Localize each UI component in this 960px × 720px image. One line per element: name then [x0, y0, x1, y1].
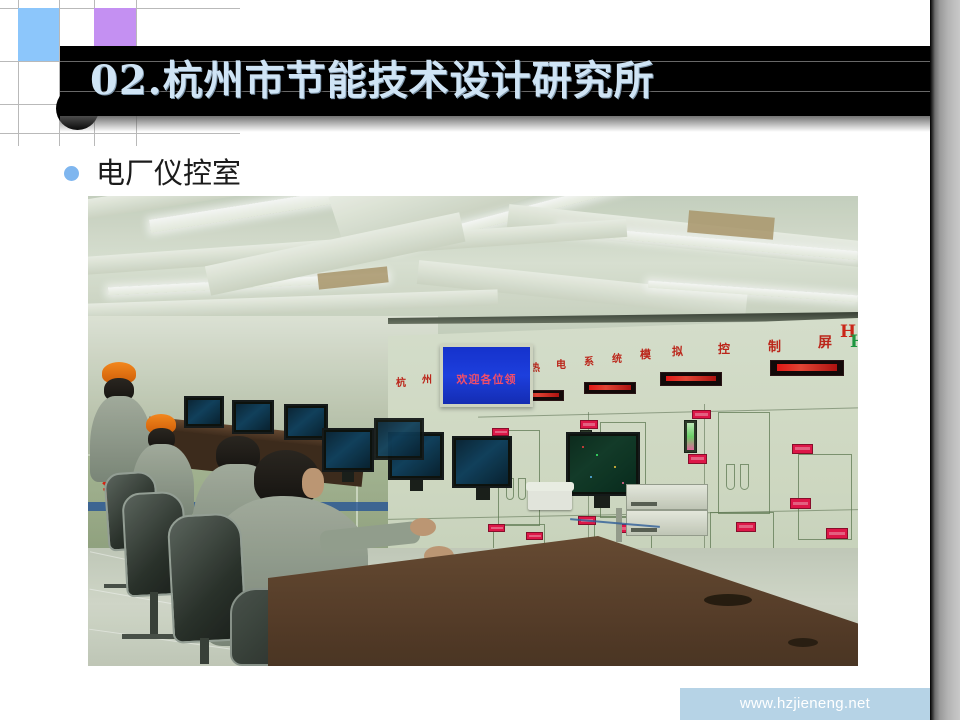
bullet-label: 电厂仪控室 [96, 152, 241, 194]
monitor [322, 428, 374, 472]
desk-cable-grommet [788, 638, 818, 647]
monitor-stand [594, 496, 610, 508]
scada-alarm-dot [582, 446, 584, 448]
bullet-row: 电厂仪控室 [58, 152, 658, 194]
digital-readout [736, 522, 756, 532]
wall-division-line [478, 407, 858, 417]
digital-readout [790, 498, 811, 509]
mimic-pipe-bend [518, 478, 526, 500]
digital-readout [826, 528, 848, 539]
wall-header-char: 控 [718, 340, 730, 357]
monitor-screen [188, 400, 220, 424]
wall-header-char: 拟 [672, 343, 683, 359]
decorative-square-blue [18, 8, 59, 61]
person-hand [410, 518, 436, 536]
footer-url-text: www.hzjieneng.net [680, 688, 930, 720]
equipment-box-controls [631, 528, 657, 532]
slide-canvas: 02.杭州市节能技术设计研究所 电厂仪控室 [0, 0, 937, 720]
equipment-box [626, 510, 708, 536]
equipment-box-stand [616, 508, 622, 542]
monitor-stand [342, 472, 354, 482]
led-banner [584, 382, 636, 394]
scada-warn-dot [614, 466, 616, 468]
monitor-stand [410, 480, 423, 491]
digital-readout [492, 428, 509, 436]
digital-readout [688, 454, 707, 464]
footer-url-bar: www.hzjieneng.net [680, 688, 930, 720]
welcome-display-text: 欢迎各位领 [447, 371, 526, 387]
desk-cable-grommet [704, 594, 752, 606]
wall-header-char: 杭 [396, 374, 406, 389]
mimic-pipe-bend [740, 464, 749, 490]
monitor-screen [456, 440, 508, 484]
title-banner-shadow [60, 116, 937, 132]
page-title: 02.杭州市节能技术设计研究所 [90, 49, 880, 113]
panel-gauge [684, 420, 697, 453]
slide-root: 02.杭州市节能技术设计研究所 电厂仪控室 [0, 0, 960, 720]
monitor-stand [476, 488, 490, 500]
digital-readout [792, 444, 813, 454]
office-chair-post [150, 592, 158, 636]
wall-header-char: 统 [612, 350, 622, 365]
monitor [232, 400, 274, 434]
digital-readout [488, 524, 505, 532]
bullet-dot-icon [64, 166, 79, 181]
welcome-display-screen: 欢迎各位领 [440, 344, 533, 407]
monitor-screen [288, 408, 324, 436]
mimic-pipe-loop [718, 412, 770, 514]
monitor-screen [236, 404, 270, 430]
digital-readout [526, 532, 543, 540]
grid-line-horizontal [0, 133, 240, 134]
scada-ok-dot [596, 454, 598, 456]
digital-readout [580, 420, 598, 429]
equipment-box [626, 484, 708, 510]
digital-readout [692, 410, 711, 419]
monitor [374, 418, 424, 460]
wall-header-char: 州 [422, 371, 432, 386]
person-face [302, 468, 324, 498]
office-chair-post [200, 638, 209, 664]
wall-header-char: 系 [584, 353, 594, 368]
monitor-screen [378, 422, 420, 456]
scada-info-dot [622, 482, 624, 484]
wall-header-char: 制 [768, 336, 781, 355]
wall-header-char: 电 [556, 356, 566, 371]
equipment-box-controls [631, 502, 657, 506]
scada-info-dot [590, 476, 592, 478]
slide-right-edge-shadow [930, 0, 960, 720]
mimic-pipe-bend [726, 464, 735, 490]
wall-header-char: 模 [640, 346, 651, 362]
led-banner [660, 372, 722, 386]
monitor [452, 436, 512, 488]
monitor [184, 396, 224, 428]
telephone-handset [526, 482, 574, 491]
wall-header-char: 屏 [818, 332, 832, 352]
control-room-photo: 作 警 盘 杭 州 市 节 能 热 电 系 统 模 拟 控 制 [88, 196, 858, 666]
monitor-screen [326, 432, 370, 468]
hh-logo-icon: H [850, 332, 858, 352]
led-banner [770, 360, 844, 376]
